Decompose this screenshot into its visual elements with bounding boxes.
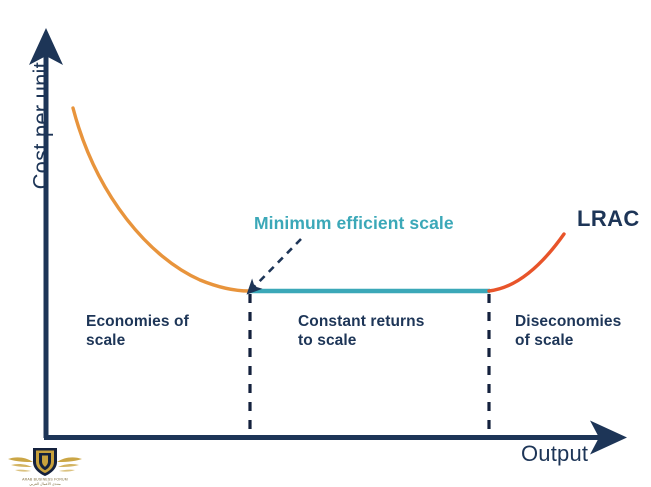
lrac-rising-segment bbox=[489, 234, 564, 291]
watermark-name: ARAB BUSINESS FORUM bbox=[22, 477, 68, 481]
zone-label-economies-of-scale: Economies of scale bbox=[86, 312, 226, 351]
lrac-falling-segment bbox=[73, 108, 249, 291]
lrac-chart-svg bbox=[0, 0, 651, 487]
zone-label-diseconomies-of-scale: Diseconomies of scale bbox=[515, 312, 645, 351]
lrac-curve-label: LRAC bbox=[577, 205, 640, 233]
diagram-canvas: Cost per unit Output Economies of scale … bbox=[0, 0, 651, 487]
zone-label-constant-returns-to-scale: Constant returns to scale bbox=[298, 312, 468, 351]
shield-emblem-icon: ARAB BUSINESS FORUM منتدى الأعمال العربي bbox=[6, 442, 84, 486]
mes-leader-arrow bbox=[252, 239, 301, 289]
watermark-logo: ARAB BUSINESS FORUM منتدى الأعمال العربي bbox=[6, 442, 84, 486]
y-axis-label: Cost per unit bbox=[27, 46, 55, 206]
minimum-efficient-scale-label: Minimum efficient scale bbox=[254, 213, 454, 235]
x-axis-label: Output bbox=[521, 440, 588, 468]
